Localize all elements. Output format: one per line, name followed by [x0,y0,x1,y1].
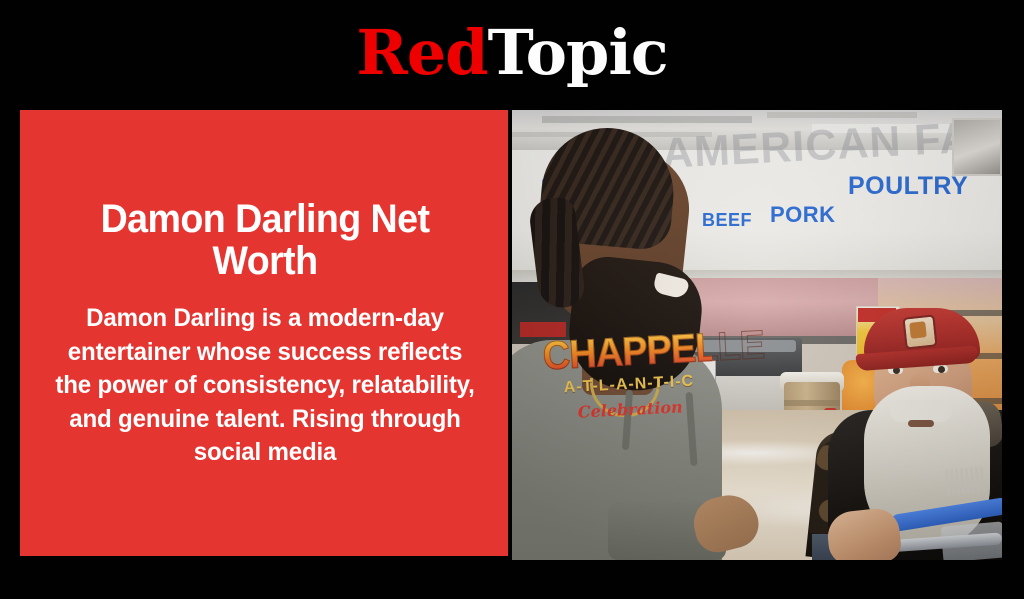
poultry-sign-text: POULTRY [848,172,968,201]
brand-logo: RedTopic [0,22,1024,84]
man-red-cap-mouth [908,420,934,427]
man-red-cap-right-pupil [938,366,945,373]
beef-sign-text: BEEF [702,210,752,231]
thumbnail-canvas: RedTopic Damon Darling Net Worth Damon D… [0,0,1024,599]
grocery-store-photo: AMERICAN FARMERS MEAT BEEF PORK POULTRY [512,110,1002,560]
man-red-cap-moustache [890,400,952,422]
page-title: Damon Darling Net Worth [44,198,486,282]
hoodie-print-celebration: Celebration [541,395,720,423]
brand-logo-white-part: Topic [488,16,668,89]
pork-sign-text: PORK [770,202,836,228]
hoodie-graphic-print: CHAPPELLE A-T-L-A-N-T-I-C Celebration [537,327,720,444]
wall-picture-frame [952,118,1002,176]
trash-can-band [784,400,840,406]
red-text-panel: Damon Darling Net Worth Damon Darling is… [20,110,508,556]
ceiling-beam [542,116,752,123]
brand-logo-red-part: Red [356,16,487,89]
cap-patch-emblem [909,321,927,339]
hoodie-print-chappelle: CHAPPELLE [542,328,713,377]
jacket-chest-logo [945,466,987,496]
panel-description-text: Damon Darling is a modern-day entertaine… [50,302,480,470]
